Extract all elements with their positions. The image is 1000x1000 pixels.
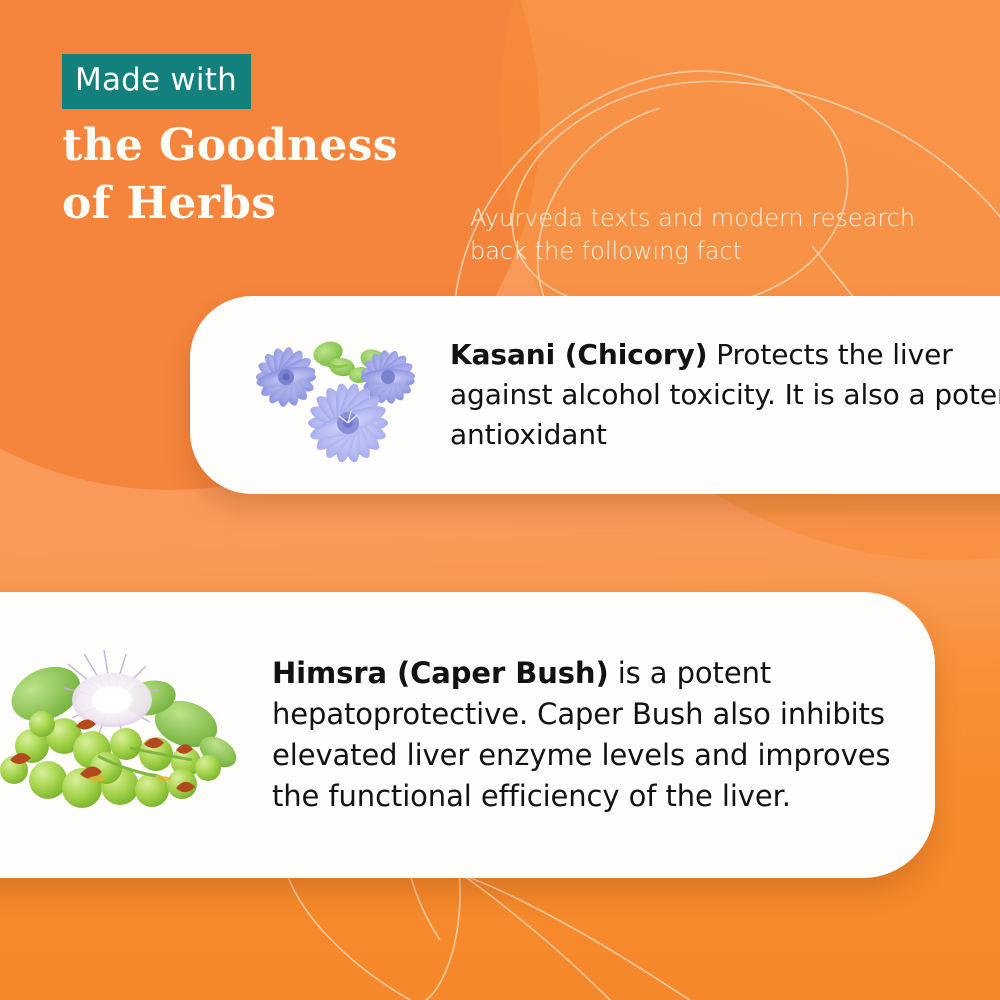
caper-bush-photo xyxy=(0,628,258,842)
poster-canvas: Made with the Goodness of Herbs Ayurveda… xyxy=(0,0,1000,1000)
headline-line-2: of Herbs xyxy=(62,178,276,229)
herb-card-himsra: Himsra (Caper Bush) is a potent hepatopr… xyxy=(0,592,935,878)
made-with-badge: Made with xyxy=(62,54,251,109)
herb-name-himsra: Himsra (Caper Bush) xyxy=(272,656,609,690)
headline-line-1: the Goodness xyxy=(62,120,398,171)
herb-name-kasani: Kasani (Chicory) xyxy=(450,338,707,371)
card-text-kasani: Kasani (Chicory) Protects the liver agai… xyxy=(450,335,1000,455)
card-text-himsra: Himsra (Caper Bush) is a potent hepatopr… xyxy=(272,653,935,817)
subtitle-text: Ayurveda texts and modern research back … xyxy=(470,202,970,268)
chicory-flower-photo xyxy=(224,315,434,475)
herb-card-kasani: Kasani (Chicory) Protects the liver agai… xyxy=(190,296,1000,494)
